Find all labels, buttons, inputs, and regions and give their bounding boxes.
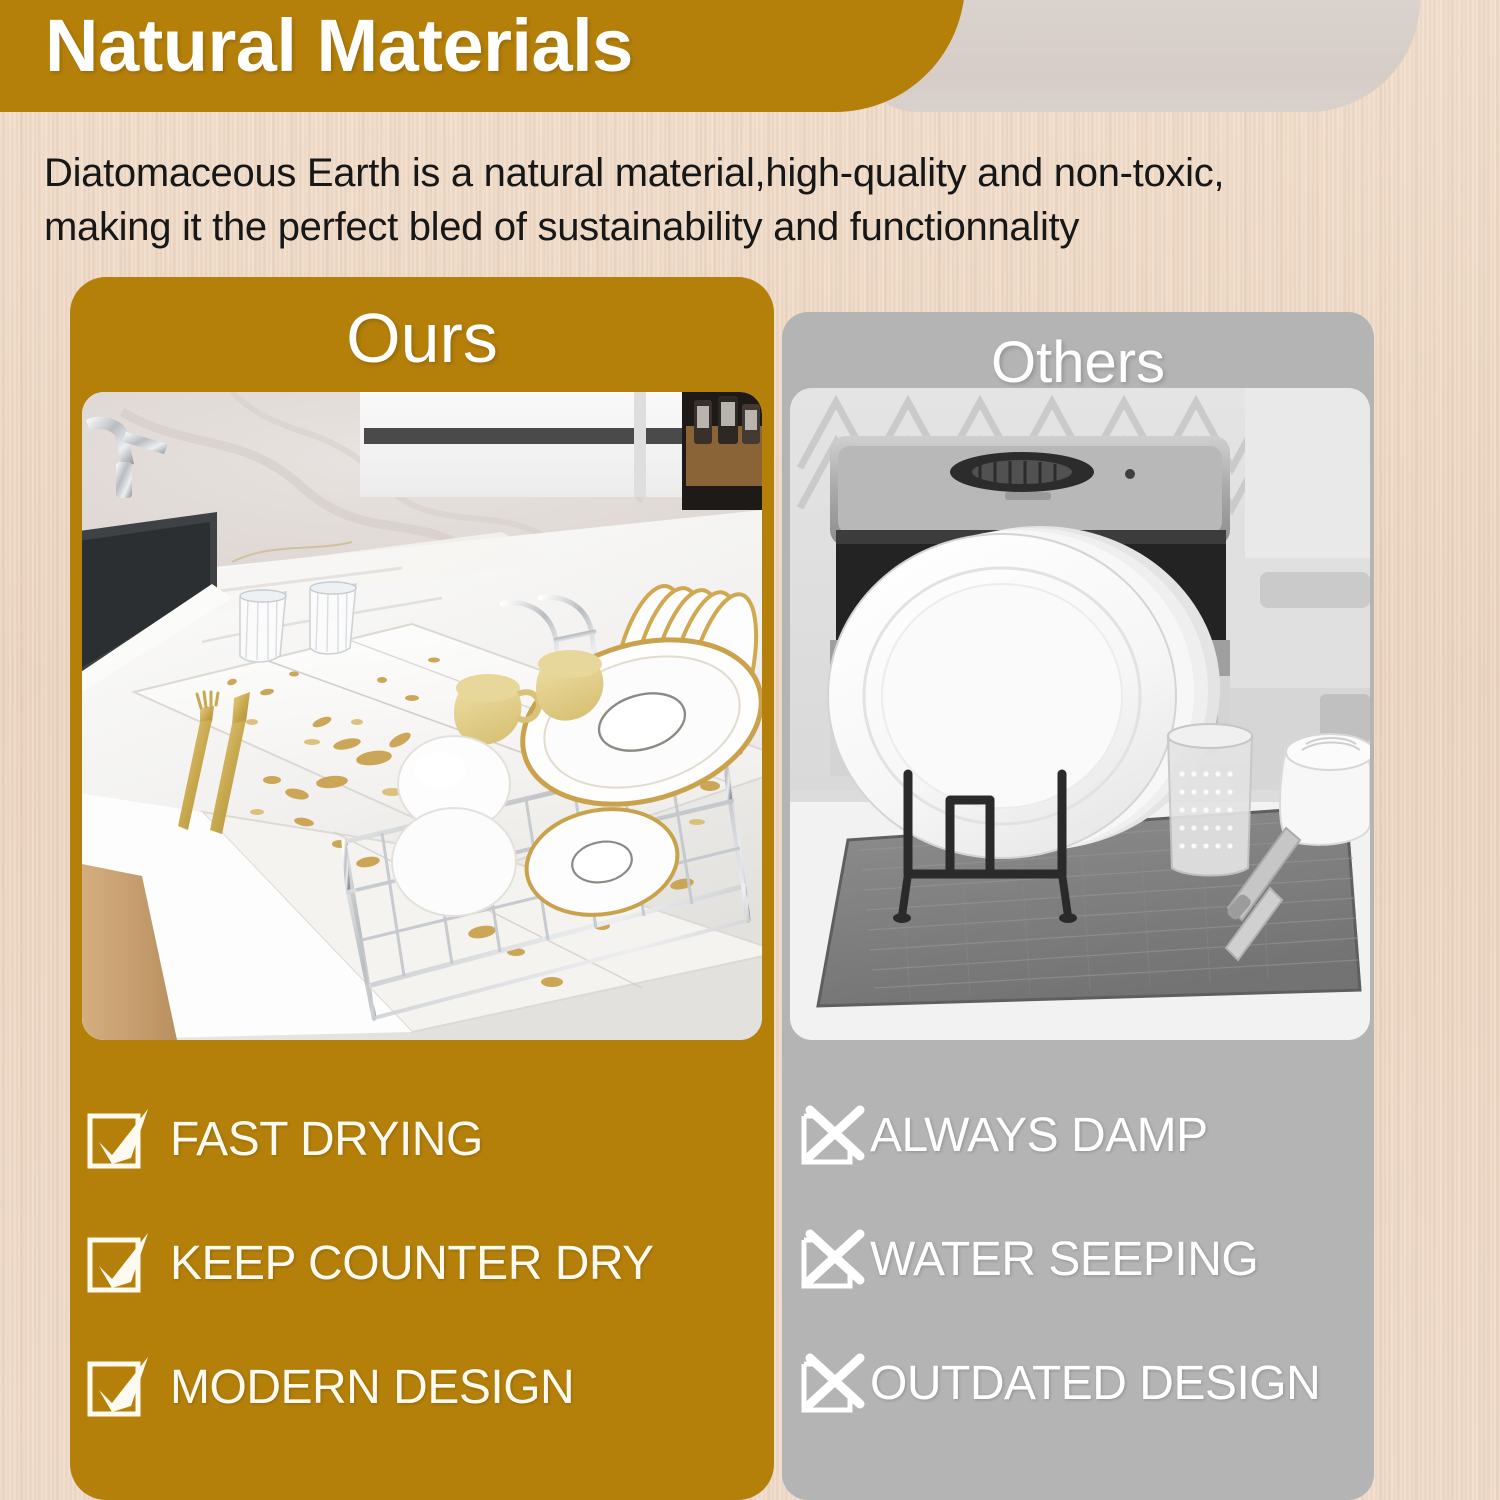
feature-list-ours: FAST DRYING KEEP COUNTER DRY MODERN DESI… [86, 1106, 726, 1420]
description-line-2: making it the perfect bled of sustainabi… [44, 200, 1444, 254]
header-banner: Natural Materials [0, 0, 965, 112]
panel-others-heading: Others [782, 312, 1374, 392]
description-line-1: Diatomaceous Earth is a natural material… [44, 146, 1444, 200]
feature-item: MODERN DESIGN [86, 1354, 726, 1420]
feature-label: MODERN DESIGN [170, 1360, 574, 1415]
photo-others [790, 388, 1370, 1040]
panel-ours-heading: Ours [70, 277, 774, 373]
feature-label: ALWAYS DAMP [870, 1108, 1208, 1163]
infographic-root: Natural Materials Diatomaceous Earth is … [0, 0, 1500, 1500]
check-box-icon [86, 1354, 152, 1420]
feature-label: FAST DRYING [170, 1112, 483, 1167]
feature-item: KEEP COUNTER DRY [86, 1230, 726, 1296]
photo-ours [82, 392, 762, 1040]
feature-list-others: ALWAYS DAMP WATER SEEPING [800, 1102, 1360, 1416]
feature-item: WATER SEEPING [800, 1226, 1360, 1292]
feature-item: FAST DRYING [86, 1106, 726, 1172]
check-box-icon [86, 1106, 152, 1172]
description-text: Diatomaceous Earth is a natural material… [44, 146, 1444, 255]
feature-item: ALWAYS DAMP [800, 1102, 1360, 1168]
x-box-icon [800, 1226, 866, 1292]
feature-label: OUTDATED DESIGN [870, 1356, 1320, 1411]
page-title: Natural Materials [45, 9, 633, 83]
feature-label: WATER SEEPING [870, 1232, 1258, 1287]
x-box-icon [800, 1350, 866, 1416]
x-box-icon [800, 1102, 866, 1168]
check-box-icon [86, 1230, 152, 1296]
feature-label: KEEP COUNTER DRY [170, 1236, 654, 1291]
feature-item: OUTDATED DESIGN [800, 1350, 1360, 1416]
